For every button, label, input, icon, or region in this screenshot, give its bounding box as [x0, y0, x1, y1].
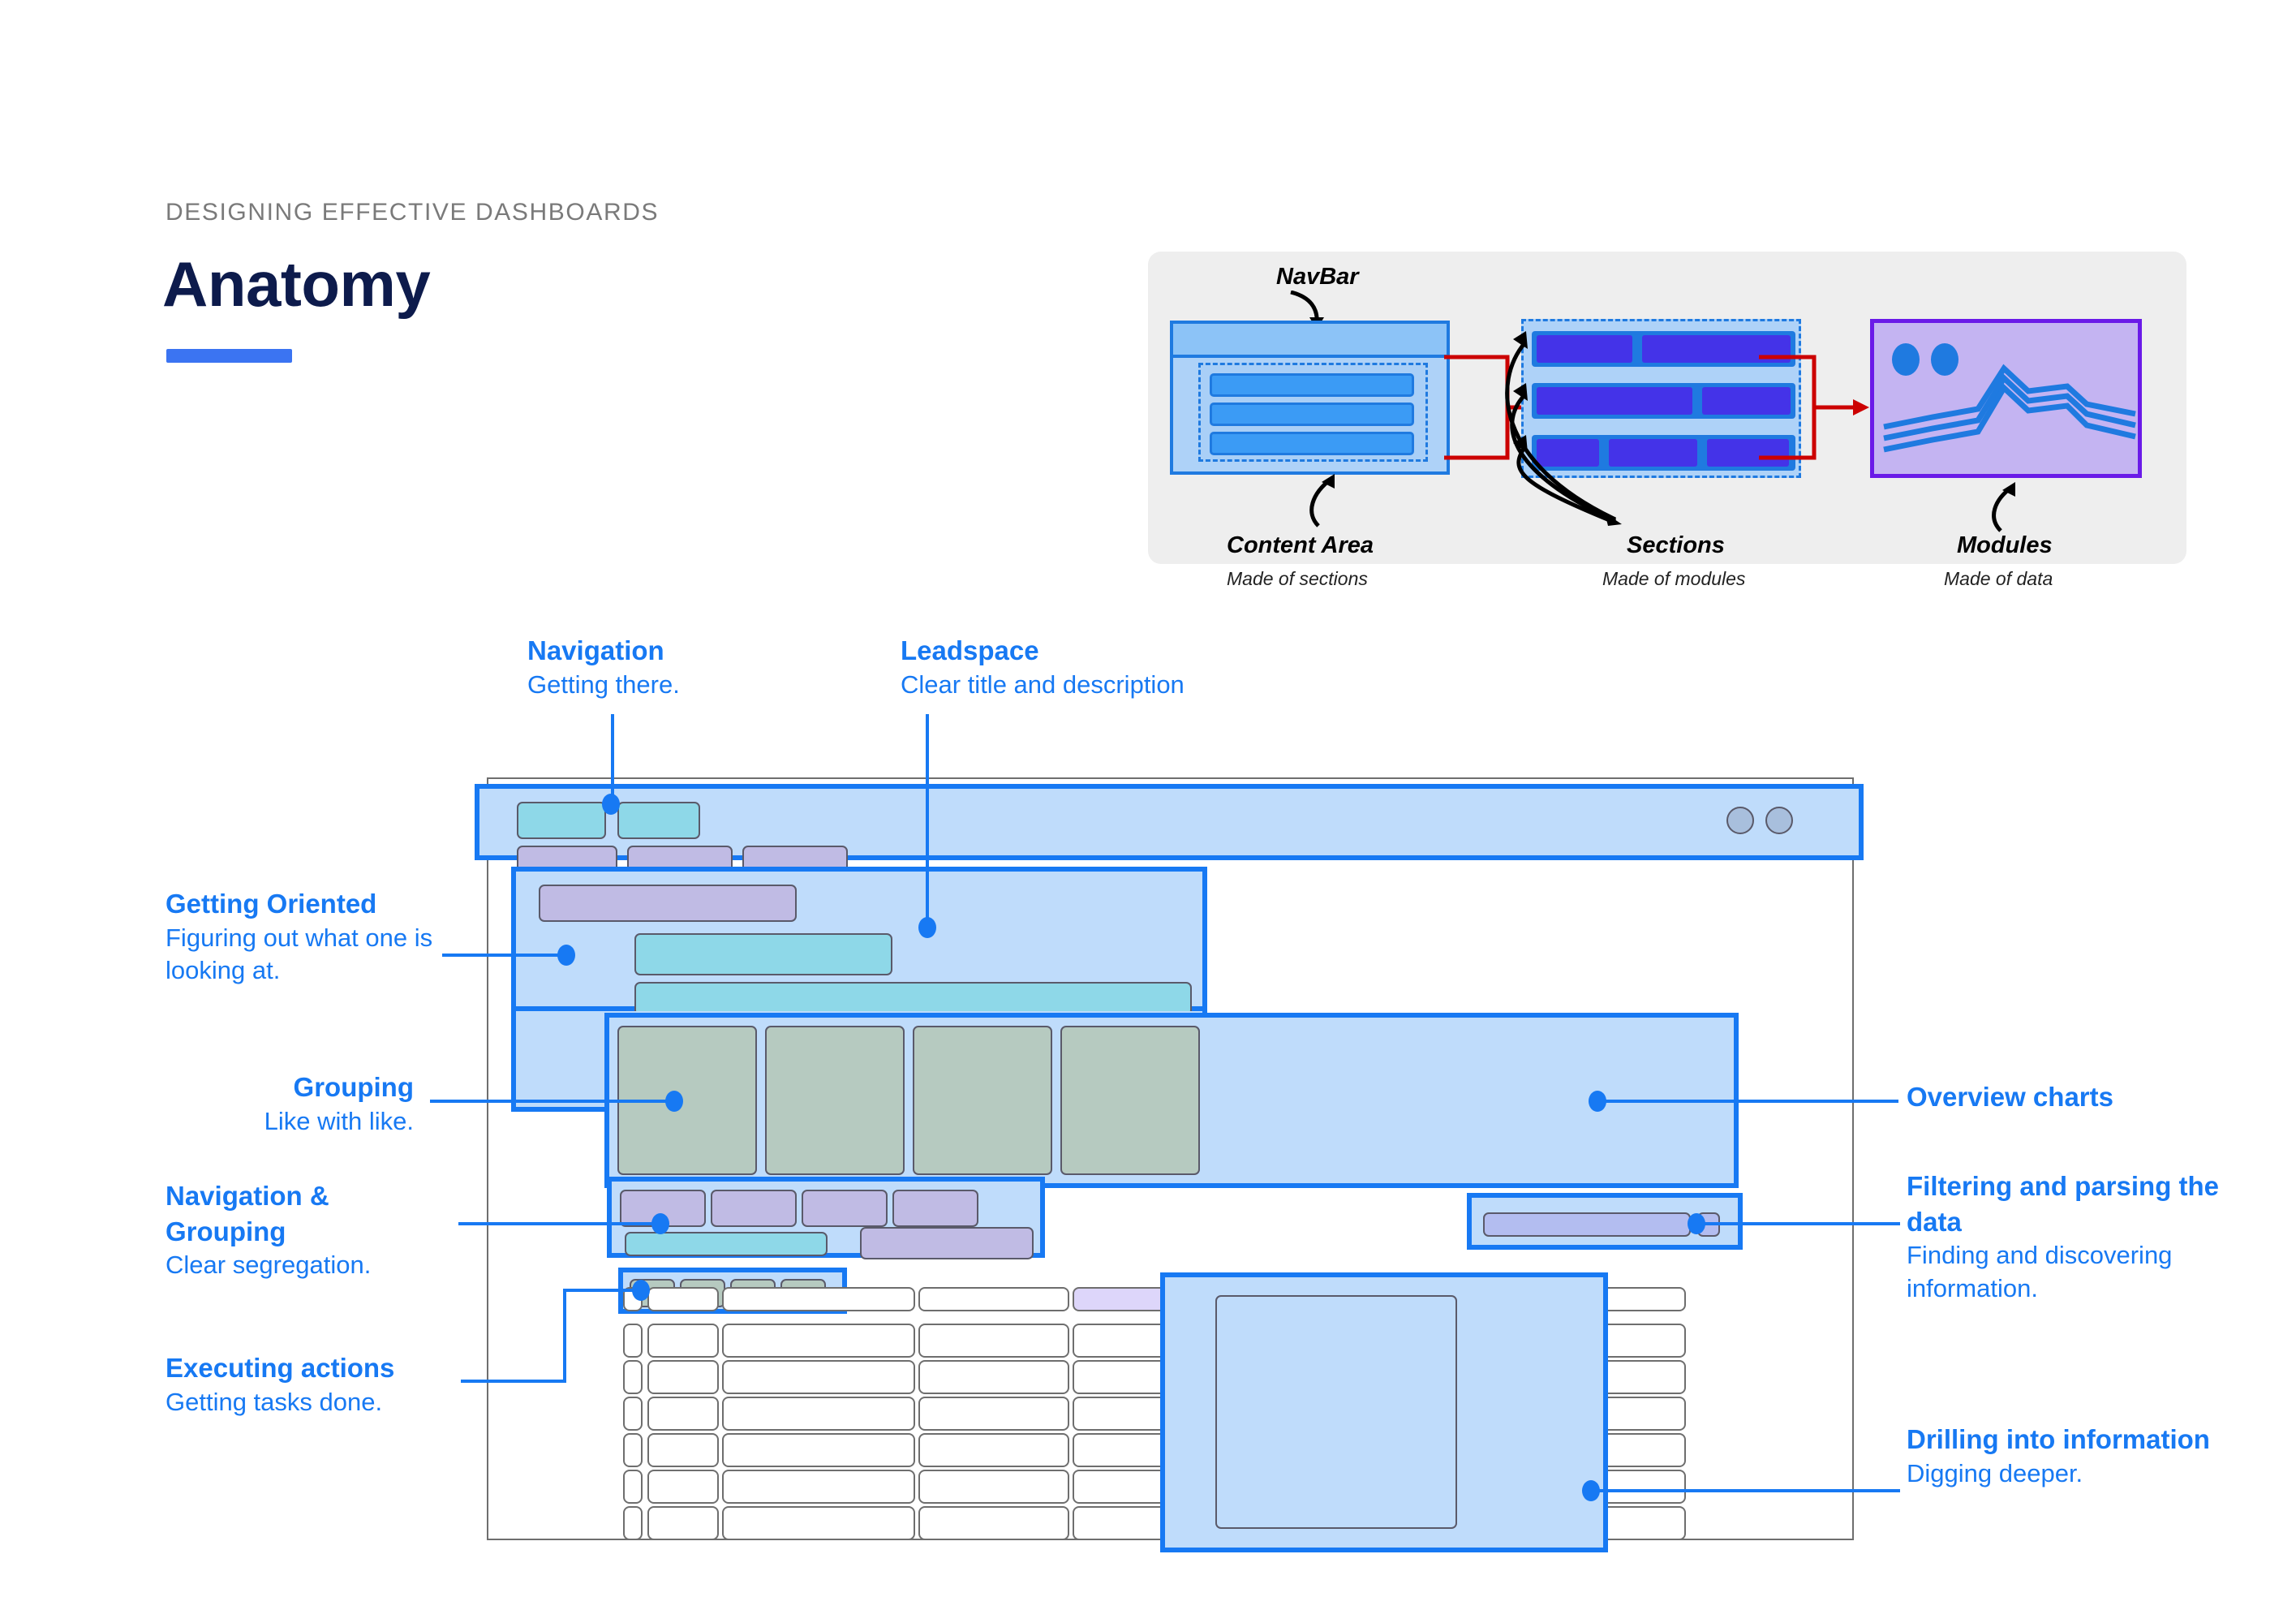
wireframe-toolbar-region[interactable] [607, 1177, 1045, 1258]
table-cell [918, 1470, 1069, 1504]
diagram-section-bar-2 [1210, 403, 1414, 426]
diagram-section-bar-3 [1210, 432, 1414, 455]
leader-dot-overview-charts [1589, 1091, 1606, 1112]
toolbar-action-button[interactable] [860, 1227, 1034, 1259]
annotation-title: Getting Oriented [166, 886, 441, 922]
table-cell [918, 1506, 1069, 1540]
leader-dot-leadspace [918, 917, 936, 938]
table-cell[interactable] [623, 1397, 643, 1431]
table-cell [647, 1360, 719, 1394]
toolbar-nav-pill-4[interactable] [892, 1190, 978, 1227]
leadspace-title-bar [634, 933, 892, 975]
table-cell [647, 1397, 719, 1431]
table-header-cell [722, 1287, 915, 1311]
navbar-tab-2[interactable] [617, 802, 700, 839]
leader-dot-filtering [1688, 1213, 1705, 1234]
table-cell [918, 1397, 1069, 1431]
annotation-title: Navigation [527, 633, 795, 669]
annotation-grouping: Grouping Like with like. [166, 1070, 414, 1138]
wireframe-drilldown-region[interactable] [1160, 1272, 1608, 1552]
leader-line-navigation [611, 714, 614, 799]
diagram-connector-2 [1759, 351, 1889, 464]
table-cell[interactable] [623, 1470, 643, 1504]
table-cell [647, 1324, 719, 1358]
drilldown-detail-panel[interactable] [1215, 1295, 1457, 1529]
diagram-content-area-dashed [1198, 363, 1428, 462]
annotation-title: Drilling into information [1907, 1422, 2255, 1457]
annotation-title: Filtering and parsing the data [1907, 1169, 2272, 1239]
table-cell [722, 1360, 915, 1394]
table-cell [647, 1506, 719, 1540]
wireframe-navbar-region[interactable] [475, 784, 1864, 860]
leader-dot-getting-oriented [557, 945, 575, 966]
modules-pointer-arrow [1980, 479, 2028, 532]
annotation-desc: Figuring out what one is looking at. [166, 922, 441, 988]
annotation-desc: Getting there. [527, 669, 795, 702]
annotation-executing-actions: Executing actions Getting tasks done. [166, 1350, 458, 1419]
diagram-section-bar-1 [1210, 373, 1414, 397]
annotation-leadspace: Leadspace Clear title and description [901, 633, 1322, 701]
leader-line-navigation-grouping [458, 1222, 660, 1225]
sections-pointer-arrows [1497, 325, 1724, 544]
navbar-tab-1[interactable] [517, 802, 606, 839]
leader-line-leadspace [926, 714, 929, 923]
diagram-label-modules: Modules [1957, 532, 2053, 559]
annotation-overview-charts: Overview charts [1907, 1079, 2280, 1115]
leader-dot-navigation-grouping [651, 1213, 669, 1234]
leader-dot-drilling [1582, 1480, 1600, 1501]
table-cell[interactable] [623, 1433, 643, 1467]
diagram-navbar-strip [1173, 324, 1447, 358]
leader-line-drilling [1590, 1489, 1900, 1492]
annotation-title: Grouping [166, 1070, 414, 1105]
leader-dot-grouping [665, 1091, 683, 1112]
table-cell [918, 1433, 1069, 1467]
toolbar-search-field[interactable] [625, 1232, 828, 1256]
annotation-getting-oriented: Getting Oriented Figuring out what one i… [166, 886, 441, 988]
annotation-title: Navigation & Grouping [166, 1178, 433, 1249]
diagram-sub-sections: Made of modules [1602, 568, 1745, 590]
window-control-2[interactable] [1765, 807, 1793, 834]
annotation-desc: Finding and discovering information. [1907, 1239, 2272, 1306]
wireframe-leadspace-region[interactable] [511, 867, 1207, 1011]
table-cell [918, 1360, 1069, 1394]
overview-chart-card-2[interactable] [765, 1026, 905, 1175]
table-cell [918, 1324, 1069, 1358]
annotation-desc: Getting tasks done. [166, 1386, 458, 1419]
leader-dot-executing-actions [632, 1280, 650, 1301]
annotation-navigation-grouping: Navigation & Grouping Clear segregation. [166, 1178, 433, 1282]
table-cell[interactable] [623, 1360, 643, 1394]
table-cell [722, 1397, 915, 1431]
slide-canvas: DESIGNING EFFECTIVE DASHBOARDS Anatomy N… [0, 0, 2296, 1623]
eyebrow-label: DESIGNING EFFECTIVE DASHBOARDS [166, 199, 659, 226]
table-cell [647, 1433, 719, 1467]
leader-line-filtering [1696, 1222, 1900, 1225]
leader-line-overview-charts [1597, 1100, 1898, 1103]
page-title: Anatomy [162, 248, 430, 321]
diagram-modules-card [1870, 319, 2142, 478]
table-header-cell [918, 1287, 1069, 1311]
table-cell [722, 1506, 915, 1540]
annotation-desc: Clear title and description [901, 669, 1322, 702]
toolbar-nav-pill-3[interactable] [802, 1190, 888, 1227]
table-header-cell [647, 1287, 719, 1311]
diagram-label-navbar: NavBar [1276, 264, 1359, 291]
table-cell [722, 1324, 915, 1358]
diagram-sub-content-area: Made of sections [1227, 568, 1368, 590]
leader-line-getting-oriented [442, 954, 565, 957]
table-cell[interactable] [623, 1324, 643, 1358]
annotation-title: Overview charts [1907, 1079, 2280, 1115]
leader-line-exec-a [461, 1380, 566, 1383]
overview-chart-card-3[interactable] [913, 1026, 1052, 1175]
annotation-navigation: Navigation Getting there. [527, 633, 795, 701]
annotation-title: Leadspace [901, 633, 1322, 669]
table-cell [722, 1433, 915, 1467]
filter-input[interactable] [1483, 1212, 1691, 1237]
toolbar-nav-pill-2[interactable] [711, 1190, 797, 1227]
line-chart-icon [1882, 364, 2138, 469]
table-cell [722, 1470, 915, 1504]
annotation-filtering: Filtering and parsing the data Finding a… [1907, 1169, 2272, 1306]
leader-dot-navigation [602, 794, 620, 815]
diagram-label-sections: Sections [1627, 532, 1725, 559]
window-control-1[interactable] [1726, 807, 1754, 834]
leadspace-breadcrumb [539, 885, 797, 922]
annotation-desc: Clear segregation. [166, 1249, 433, 1282]
table-cell [647, 1470, 719, 1504]
wireframe-overview-cards-region[interactable] [604, 1013, 1739, 1188]
leader-line-grouping [430, 1100, 673, 1103]
content-area-pointer-arrow [1294, 471, 1346, 527]
annotation-desc: Like with like. [166, 1105, 414, 1139]
diagram-label-content-area: Content Area [1227, 532, 1374, 559]
annotation-drilling: Drilling into information Digging deeper… [1907, 1422, 2255, 1490]
leader-line-exec-b [563, 1289, 566, 1383]
diagram-sub-modules: Made of data [1944, 568, 2053, 590]
overview-chart-card-4[interactable] [1060, 1026, 1200, 1175]
table-cell[interactable] [623, 1506, 643, 1540]
leader-line-exec-c [563, 1289, 639, 1292]
annotation-desc: Digging deeper. [1907, 1457, 2255, 1491]
title-underline-rule [166, 349, 292, 363]
annotation-title: Executing actions [166, 1350, 458, 1386]
